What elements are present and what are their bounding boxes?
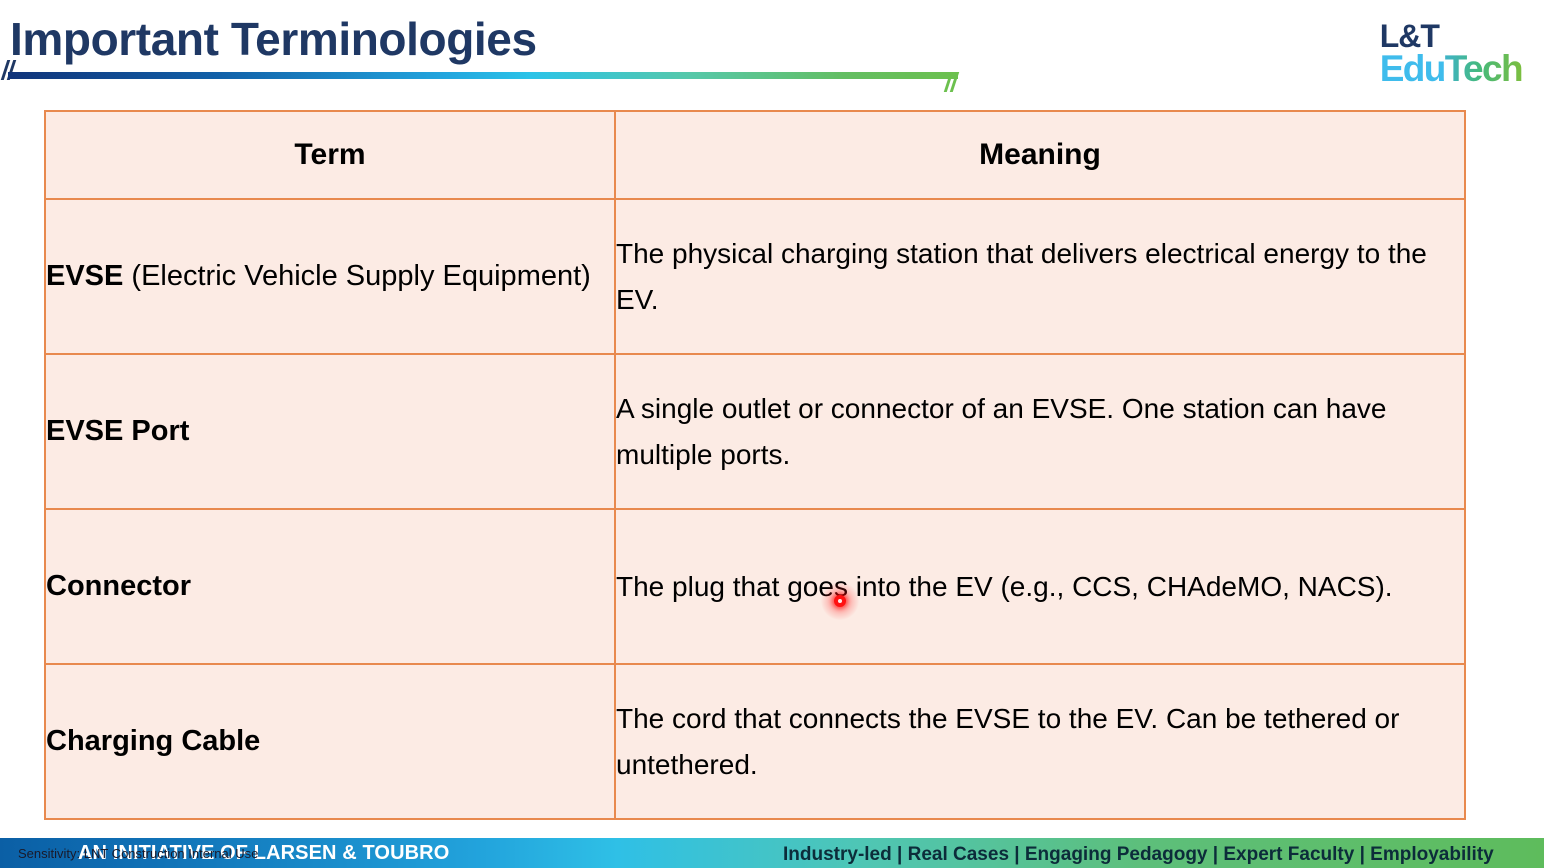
term-expansion: (Electric Vehicle Supply Equipment) xyxy=(123,260,590,292)
table-row: ConnectorThe plug that goes into the EV … xyxy=(45,509,1465,664)
term-name: Connector xyxy=(46,570,191,602)
table-cell-meaning: The cord that connects the EVSE to the E… xyxy=(615,664,1465,819)
logo-tech-text: Tech xyxy=(1445,48,1522,89)
column-header-term: Term xyxy=(45,111,615,199)
page-title: Important Terminologies xyxy=(10,12,537,66)
table-body: EVSE (Electric Vehicle Supply Equipment)… xyxy=(45,199,1465,819)
slide-header: Important Terminologies xyxy=(0,0,1544,100)
table-cell-term: Connector xyxy=(45,509,615,664)
terminologies-table: Term Meaning EVSE (Electric Vehicle Supp… xyxy=(44,110,1466,820)
table-row: EVSE PortA single outlet or connector of… xyxy=(45,354,1465,509)
term-name: EVSE Port xyxy=(46,415,189,447)
table-row: Charging CableThe cord that connects the… xyxy=(45,664,1465,819)
table-cell-meaning: A single outlet or connector of an EVSE.… xyxy=(615,354,1465,509)
table-cell-meaning: The plug that goes into the EV (e.g., CC… xyxy=(615,509,1465,664)
table-cell-term: EVSE (Electric Vehicle Supply Equipment) xyxy=(45,199,615,354)
sensitivity-label: Sensitivity: LNT Construction Internal U… xyxy=(18,846,258,861)
table-cell-term: Charging Cable xyxy=(45,664,615,819)
table-header-row: Term Meaning xyxy=(45,111,1465,199)
title-gradient-rule xyxy=(8,72,958,79)
table-cell-meaning: The physical charging station that deliv… xyxy=(615,199,1465,354)
rule-slash-right-icon xyxy=(944,72,962,92)
term-name: Charging Cable xyxy=(46,725,260,757)
term-name: EVSE xyxy=(46,260,123,292)
logo-edu-text: Edu xyxy=(1380,48,1445,89)
footer-tagline-text: Industry-led | Real Cases | Engaging Ped… xyxy=(783,844,1494,866)
lnt-edutech-logo: L&T EduTech xyxy=(1380,20,1522,87)
table-cell-term: EVSE Port xyxy=(45,354,615,509)
column-header-meaning: Meaning xyxy=(615,111,1465,199)
logo-edutech-text: EduTech xyxy=(1380,50,1522,87)
table-row: EVSE (Electric Vehicle Supply Equipment)… xyxy=(45,199,1465,354)
